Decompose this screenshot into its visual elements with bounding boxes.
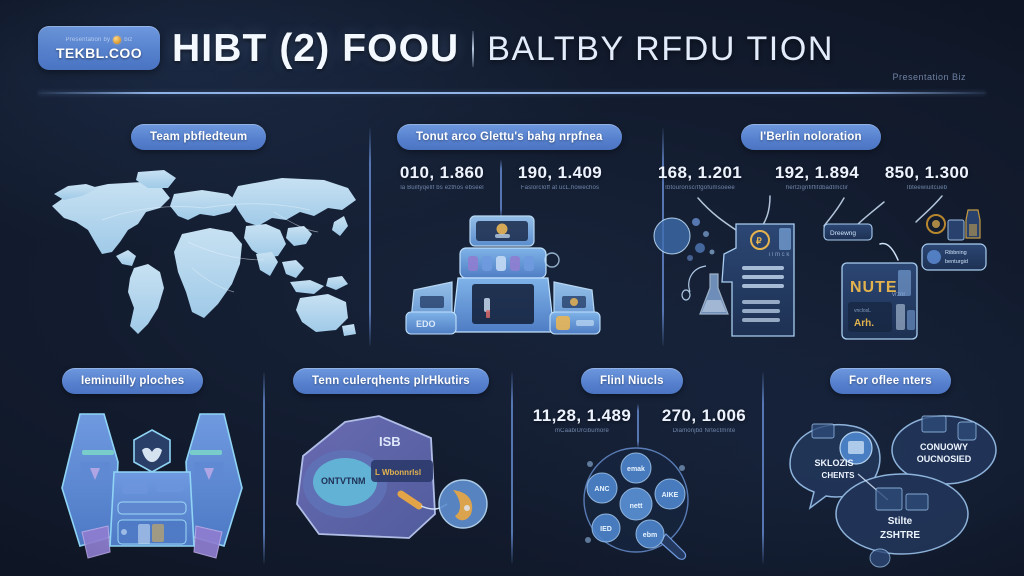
section-pill-ploches-label: Ieminuilly ploches: [81, 375, 184, 387]
stat-top-right-2-caption: hertzignfiffifdbadtmctir: [762, 185, 872, 191]
blob-label-1: CONUOWY: [920, 442, 968, 452]
stat-top-right-2-value: 192, 1.894: [762, 163, 872, 183]
logo-tagline-tail: biz: [124, 37, 132, 43]
divider-top-1: [369, 128, 371, 346]
divider-bottom-1: [263, 372, 265, 564]
region-panel-illustration: ONTVTNM ISB L Wbonnrlsl: [283, 408, 499, 566]
section-pill-culerqhents-label: Tenn culerqhents plrHkutirs: [312, 375, 470, 387]
panel-tag-label: Dreewng: [830, 230, 856, 237]
bubble-label-3: nett: [630, 503, 644, 510]
svg-text:vnclosL: vnclosL: [854, 308, 871, 314]
svg-text:i l m c k: i l m c k: [769, 252, 790, 258]
network-blobs-illustration: SKLOZIS CHENTS CONUOWY OUCNOSIED Stilte …: [772, 408, 1002, 570]
section-pill-berlin-label: I'Berlin noloration: [760, 131, 862, 143]
stat-top-mid-1-value: 010, 1.860: [390, 163, 494, 183]
stat-top-mid-2: 190, 1.409 Faslorcloff at ucL.howechos: [508, 163, 612, 191]
blob-label-0b: CHENTS: [822, 471, 856, 480]
blob-label-2b: ZSHTRE: [880, 530, 920, 541]
region-inner-label: ONTVTNM: [321, 476, 366, 486]
logo-wordmark: TEKBL.COO: [56, 45, 142, 61]
bubble-label-4: IED: [600, 526, 612, 533]
stat-top-mid-1: 010, 1.860 la Builtyqellf bs ezthos ebse…: [390, 163, 494, 191]
svg-text:benturgid: benturgid: [945, 259, 968, 265]
logo-top-row: Presentation by biz: [66, 36, 133, 44]
stat-top-right-1-value: 168, 1.201: [645, 163, 755, 183]
region-strip-label: L Wbonnrlsl: [375, 468, 421, 477]
section-pill-berlin[interactable]: I'Berlin noloration: [741, 124, 881, 150]
svg-text:EDO: EDO: [416, 319, 436, 329]
header-credit: Presentation Biz: [892, 72, 966, 82]
stat-bot-mid-1-value: 11,28, 1.489: [524, 406, 640, 426]
section-pill-ploches[interactable]: Ieminuilly ploches: [62, 368, 203, 394]
stat-bot-mid-1-caption: mCaabiUrcibumore: [524, 428, 640, 434]
stat-bot-mid-1: 11,28, 1.489 mCaabiUrcibumore: [524, 406, 640, 434]
page-subtitle-heading: BALTBY RFDU TION: [487, 30, 834, 69]
blob-label-0: SKLOZIS: [814, 458, 853, 468]
svg-text:Ribbning: Ribbning: [945, 250, 967, 256]
panel-diagram-illustration: ₽ i l m c k Dreewng: [666, 196, 996, 346]
stat-top-mid-2-caption: Faslorcloff at ucL.howechos: [508, 185, 612, 191]
bubble-label-5: ebm: [643, 532, 657, 539]
bubble-label-1: ANC: [594, 486, 609, 493]
divider-top-mid-stats: [500, 160, 502, 218]
svg-text:NUTE: NUTE: [850, 279, 898, 296]
isometric-kiosk-illustration: EDO: [400, 212, 604, 342]
stat-top-right-3-caption: Ibteewiuitcueb: [872, 185, 982, 191]
section-pill-team[interactable]: Team pbfledteum: [131, 124, 266, 150]
stat-top-right-3-value: 850, 1.300: [872, 163, 982, 183]
bubble-label-0: emak: [627, 466, 645, 473]
stat-top-mid-2-value: 190, 1.409: [508, 163, 612, 183]
svg-text:₽: ₽: [756, 236, 762, 246]
stat-top-right-1-caption: Ibtourorisc/Ifgofumsoeee: [645, 185, 755, 191]
logo-tagline: Presentation by: [66, 37, 111, 43]
divider-bottom-3: [762, 372, 764, 564]
section-pill-oflee-label: For oflee nters: [849, 375, 932, 387]
stat-top-right-1: 168, 1.201 Ibtourorisc/Ifgofumsoeee: [645, 163, 755, 191]
section-pill-niucls-label: Flinl Niucls: [600, 375, 664, 387]
region-title: ISB: [379, 434, 401, 449]
stat-bot-mid-2-value: 270, 1.006: [646, 406, 762, 426]
section-pill-team-label: Team pbfledteum: [150, 131, 247, 143]
slide-canvas: Presentation by biz TEKBL.COO HIBT (2) F…: [0, 0, 1024, 576]
bubble-cluster-illustration: emak ANC AIKE nett IED ebm: [572, 442, 712, 570]
header-divider: [38, 92, 986, 94]
title-divider: [472, 31, 474, 67]
gear-figure-illustration: [52, 406, 252, 570]
stat-top-right-3: 850, 1.300 Ibteewiuitcueb: [872, 163, 982, 191]
section-pill-culerqhents[interactable]: Tenn culerqhents plrHkutirs: [293, 368, 489, 394]
slide-header: Presentation by biz TEKBL.COO HIBT (2) F…: [0, 0, 1024, 96]
world-map-illustration: [42, 168, 360, 340]
blob-label-2: Stilte: [888, 516, 913, 527]
bubble-label-2: AIKE: [662, 492, 679, 499]
page-title: HIBT (2) FOOU: [172, 27, 459, 71]
stat-bot-mid-2-caption: Diamonjbd Nrtectmnte: [646, 428, 762, 434]
divider-bottom-2: [511, 372, 513, 564]
section-pill-oflee[interactable]: For oflee nters: [830, 368, 951, 394]
section-pill-glettu-label: Tonut arco Glettu's bahg nrpfnea: [416, 131, 603, 143]
coin-icon: [113, 36, 121, 44]
title-row: HIBT (2) FOOU BALTBY RFDU TION: [172, 18, 1004, 80]
section-pill-niucls[interactable]: Flinl Niucls: [581, 368, 683, 394]
stat-top-mid-1-caption: la Builtyqellf bs ezthos ebseel: [390, 185, 494, 191]
stat-bot-mid-2: 270, 1.006 Diamonjbd Nrtectmnte: [646, 406, 762, 434]
section-pill-glettu[interactable]: Tonut arco Glettu's bahg nrpfnea: [397, 124, 622, 150]
blob-label-1b: OUCNOSIED: [917, 454, 972, 464]
logo-badge[interactable]: Presentation by biz TEKBL.COO: [38, 26, 160, 70]
stat-top-right-2: 192, 1.894 hertzignfiffifdbadtmctir: [762, 163, 872, 191]
svg-text:Arh.: Arh.: [854, 318, 874, 329]
